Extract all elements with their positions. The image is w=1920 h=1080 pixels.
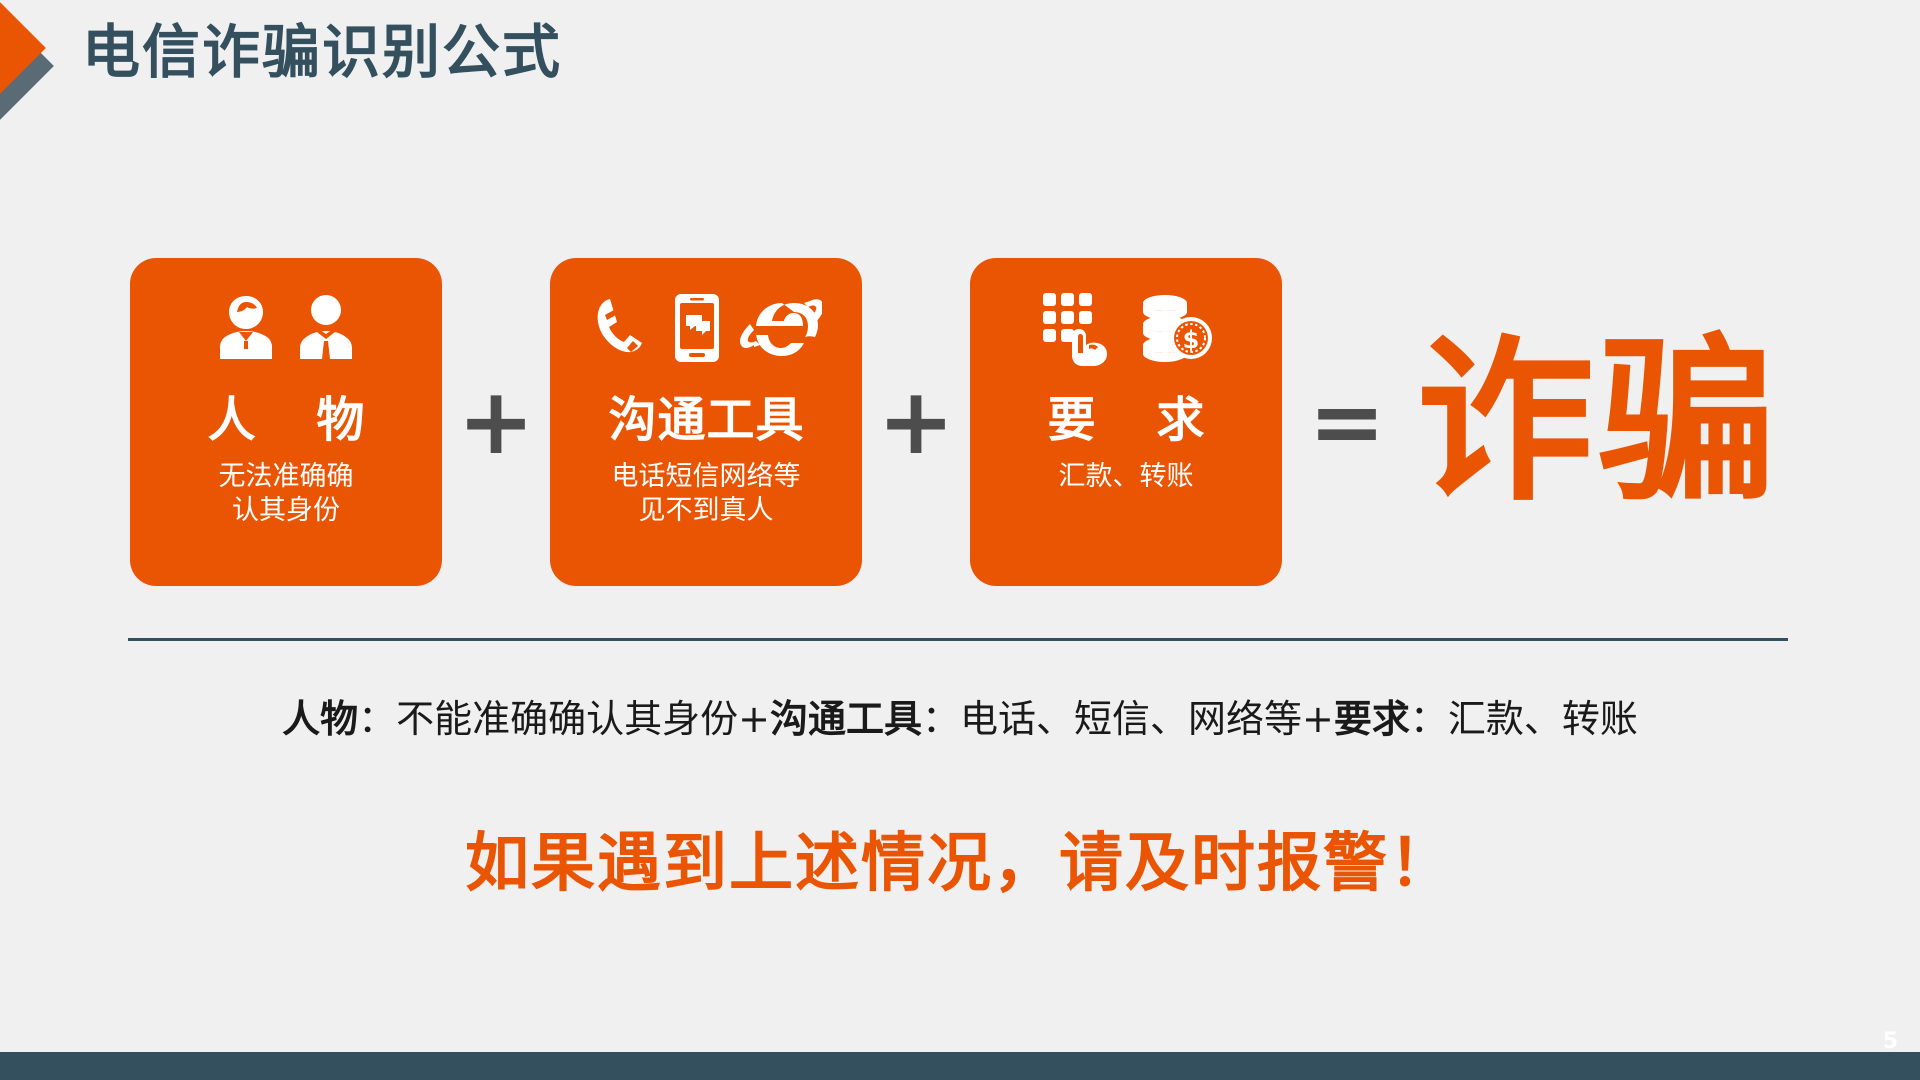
card-demand-subtitle: 汇款、转账 xyxy=(1059,460,1194,494)
card-demand-icons: $ xyxy=(970,284,1282,372)
explanation-segment-4: 要求 xyxy=(1334,697,1410,741)
card-people-title: 人 物 xyxy=(186,380,387,450)
card-communication-icons xyxy=(550,284,862,372)
section-divider xyxy=(128,638,1788,641)
svg-text:$: $ xyxy=(1183,326,1200,354)
keypad-hand-icon xyxy=(1039,289,1115,367)
coin-stack-dollar-icon: $ xyxy=(1133,291,1213,365)
explanation-segment-2: 沟通工具 xyxy=(770,697,922,741)
result-word: 诈骗 xyxy=(1416,333,1780,511)
formula-card-people[interactable]: 人 物 无法准确确 认其身份 xyxy=(130,258,442,586)
card-people-icons xyxy=(130,284,442,372)
plus-operator-1: + xyxy=(442,376,550,468)
card-demand-title: 要 求 xyxy=(1026,380,1227,450)
formula-explanation: 人物：不能准确确认其身份+沟通工具：电话、短信、网络等+要求：汇款、转账 xyxy=(0,688,1920,743)
smartphone-message-icon xyxy=(672,291,722,365)
explanation-segment-3: ：电话、短信、网络等+ xyxy=(922,697,1334,741)
explanation-segment-1: ：不能准确确认其身份+ xyxy=(358,697,770,741)
plus-operator-2: + xyxy=(862,376,970,468)
page-number: 5 xyxy=(1883,1029,1898,1054)
explanation-segment-5: ：汇款、转账 xyxy=(1410,697,1638,741)
formula-card-demand[interactable]: $ 要 求 汇款、转账 xyxy=(970,258,1282,586)
telephone-handset-icon xyxy=(590,293,654,363)
formula-row: 人 物 无法准确确 认其身份 + xyxy=(0,252,1920,592)
footer-bar xyxy=(0,1052,1920,1080)
call-to-action-text: 如果遇到上述情况，请及时报警！ xyxy=(0,812,1920,904)
equals-operator: = xyxy=(1282,376,1412,468)
card-communication-subtitle: 电话短信网络等 见不到真人 xyxy=(612,460,801,528)
female-person-icon xyxy=(215,291,277,365)
explanation-segment-0: 人物 xyxy=(282,697,358,741)
page-title: 电信诈骗识别公式 xyxy=(82,22,562,83)
card-communication-title: 沟通工具 xyxy=(607,380,804,450)
male-person-icon xyxy=(295,291,357,365)
formula-card-communication[interactable]: 沟通工具 电话短信网络等 见不到真人 xyxy=(550,258,862,586)
card-people-subtitle: 无法准确确 认其身份 xyxy=(219,460,354,528)
internet-explorer-icon xyxy=(740,293,822,363)
